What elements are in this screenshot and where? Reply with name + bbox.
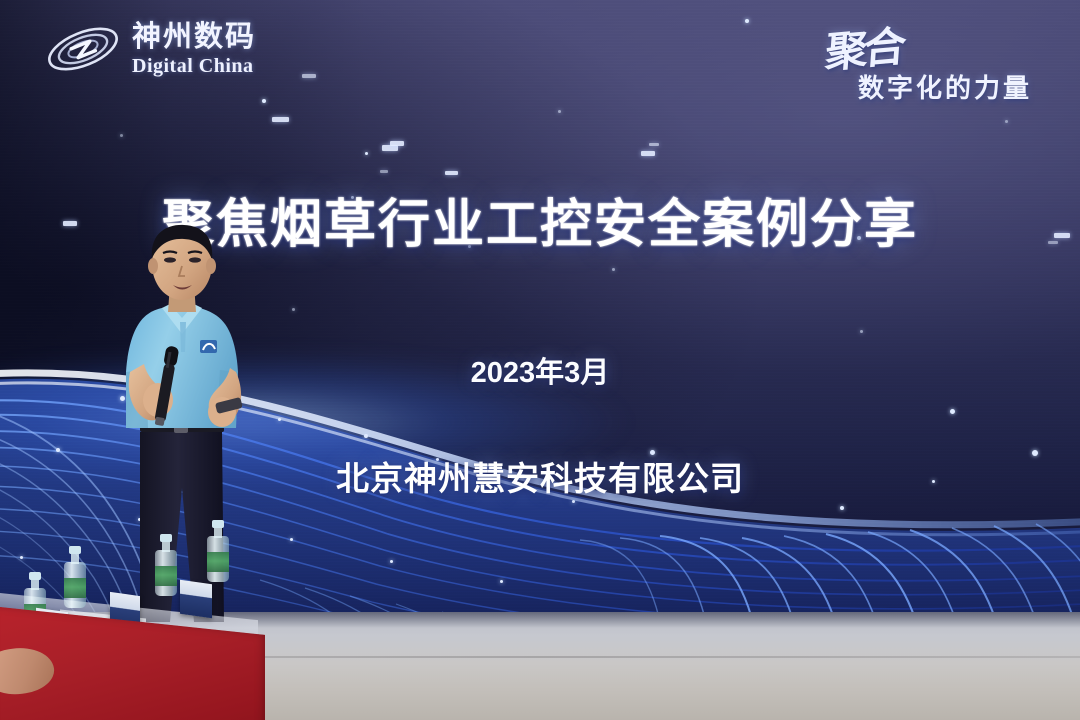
digital-china-swirl-icon	[44, 18, 122, 80]
conference-stage-photo: 神州数码 Digital China 聚合 数字化的力量 聚焦烟草行业工控安全案…	[0, 0, 1080, 720]
event-logo: 聚合 数字化的力量	[808, 16, 1058, 116]
water-bottle	[207, 520, 229, 582]
water-bottle	[64, 546, 86, 608]
digital-china-logo: 神州数码 Digital China	[44, 18, 256, 80]
name-card	[180, 580, 212, 618]
foreground-table	[0, 588, 270, 720]
polo-chest-logo	[200, 340, 217, 353]
logo-chinese-name: 神州数码	[132, 23, 256, 52]
water-bottle	[155, 534, 177, 596]
speaker-figure	[96, 222, 296, 622]
logo-english-name: Digital China	[132, 56, 256, 76]
event-logo-tagline: 数字化的力量	[858, 68, 1032, 105]
